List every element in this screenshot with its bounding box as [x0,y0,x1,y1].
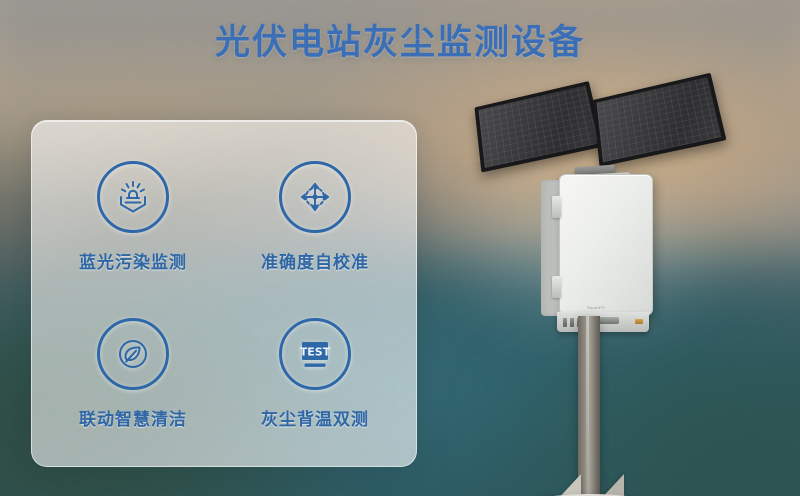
enclosure-brand-label: SmartPV [587,305,605,310]
feature-item-dust-temp[interactable]: TEST 灰尘背温双测 [224,296,406,453]
poster-canvas: 光伏电站灰尘监测设备 蓝光污染 [0,0,800,496]
support-pole [578,316,600,496]
solar-panel-array [455,70,745,190]
base-gusset-right [598,474,624,496]
feature-item-smart-cleaning[interactable]: 联动智慧清洁 [42,296,224,453]
solar-dust-monitoring-station: SmartPV [455,70,745,490]
test-monitor-icon: TEST [279,318,351,390]
feature-panel: 蓝光污染监测 准确度自校准 [31,120,417,467]
feature-label: 准确度自校准 [261,248,369,273]
pole-highlight [586,316,589,496]
amber-connector [635,319,643,324]
page-title: 光伏电站灰尘监测设备 [0,14,800,65]
solar-panel-left [474,81,604,172]
base-gusset-left [555,474,581,496]
leaf-circle-icon [97,318,169,390]
feature-item-self-calibration[interactable]: 准确度自校准 [224,139,406,296]
solar-panel-right [593,73,727,167]
enclosure-hinge [552,196,561,218]
feature-label: 蓝光污染监测 [79,248,187,273]
feature-item-blue-light[interactable]: 蓝光污染监测 [42,139,224,296]
enclosure-front-door [559,174,653,316]
controller-enclosure: SmartPV [541,174,653,319]
feature-label: 联动智慧清洁 [79,405,187,430]
crosshair-target-icon [279,161,351,233]
feature-label: 灰尘背温双测 [261,405,369,430]
cable-gland [563,318,567,327]
cable-gland [570,318,574,327]
enclosure-hinge [552,276,561,298]
test-icon-text: TEST [300,345,331,358]
feature-grid: 蓝光污染监测 准确度自校准 [32,121,416,466]
beacon-shield-icon [97,161,169,233]
